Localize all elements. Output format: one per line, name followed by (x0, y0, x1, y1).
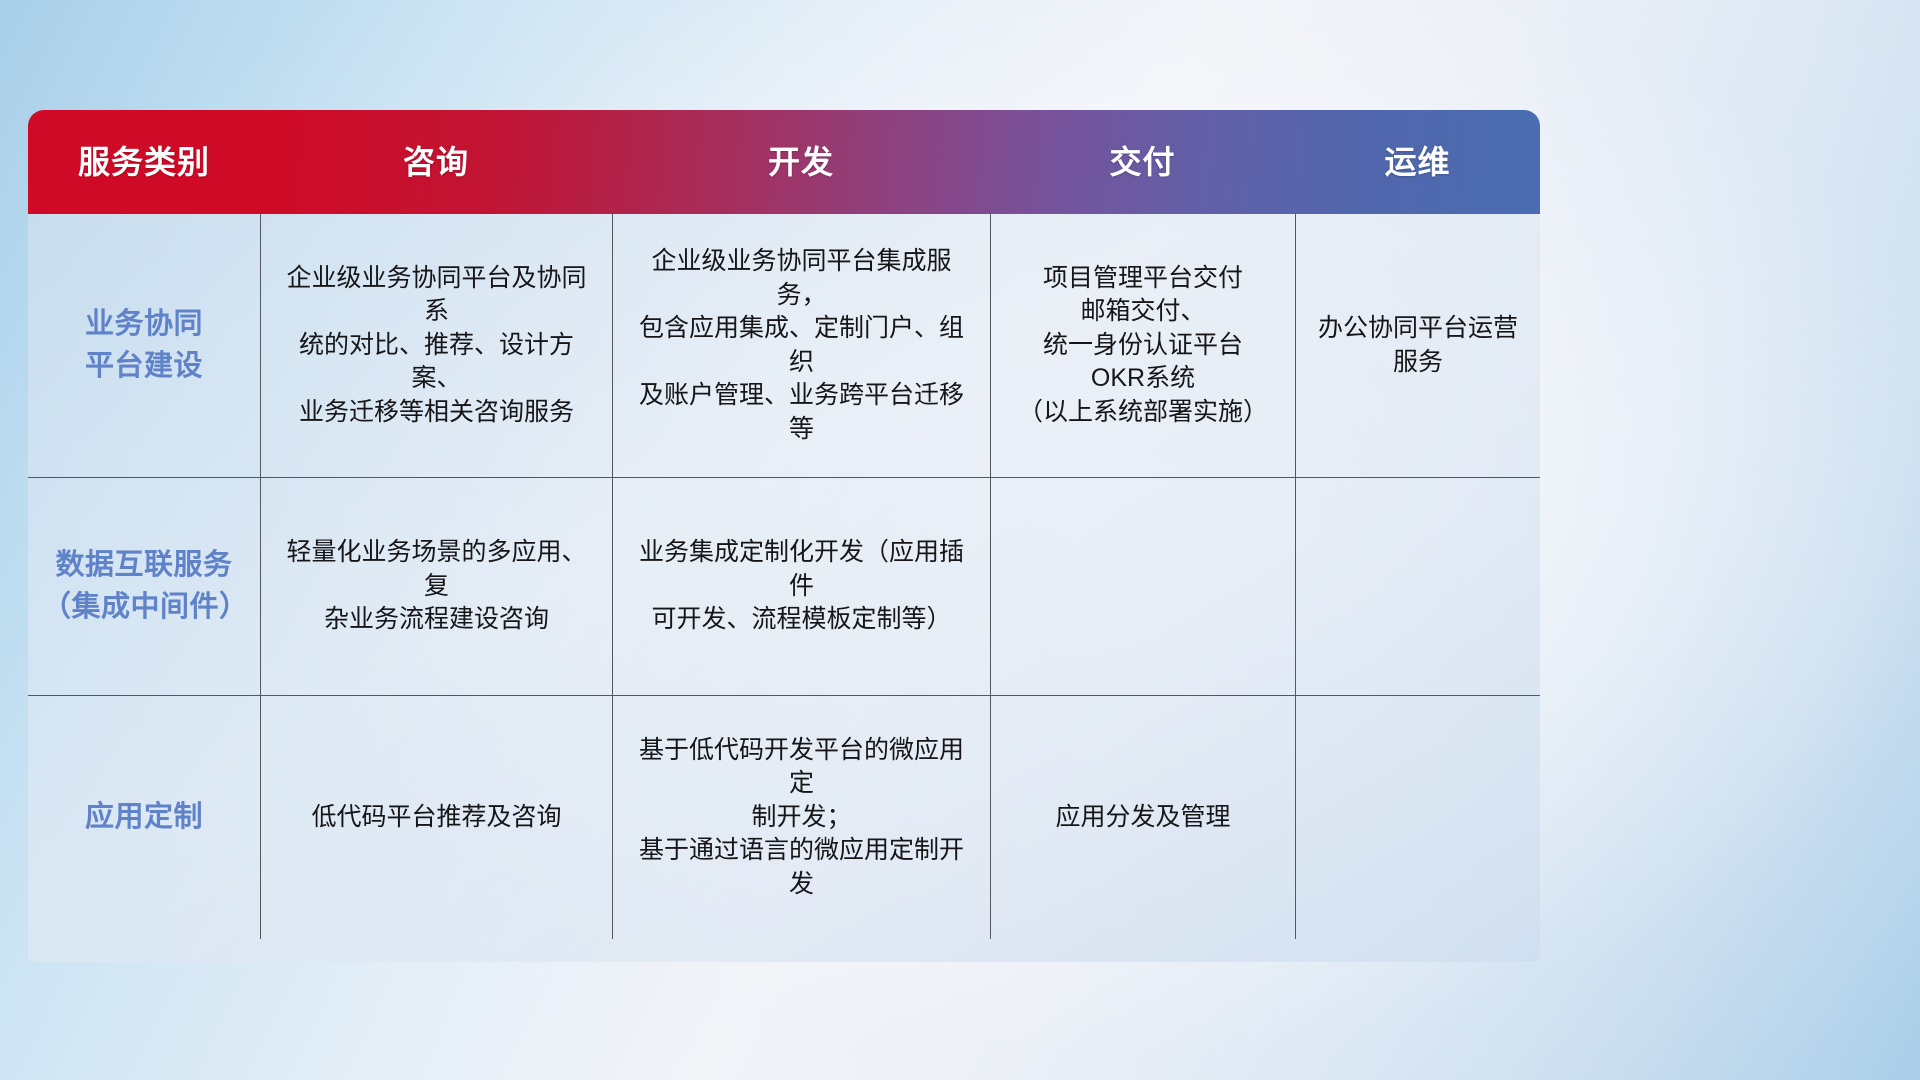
cell-delivery: 项目管理平台交付 邮箱交付、 统一身份认证平台 OKR系统 （以上系统部署实施） (990, 214, 1295, 477)
table-body: 业务协同 平台建设 企业级业务协同平台及协同系 统的对比、推荐、设计方案、 业务… (28, 214, 1540, 962)
cell-development: 基于低代码开发平台的微应用定 制开发； 基于通过语言的微应用定制开发 (612, 696, 990, 939)
column-header-delivery: 交付 (990, 146, 1295, 178)
table-row: 业务协同 平台建设 企业级业务协同平台及协同系 统的对比、推荐、设计方案、 业务… (28, 214, 1540, 477)
table-header-row: 服务类别 咨询 开发 交付 运维 (28, 110, 1540, 214)
cell-operations (1295, 696, 1540, 939)
row-category-label: 业务协同 平台建设 (28, 214, 260, 477)
cell-delivery (990, 478, 1295, 695)
table-row: 应用定制 低代码平台推荐及咨询 基于低代码开发平台的微应用定 制开发； 基于通过… (28, 695, 1540, 939)
row-category-label: 数据互联服务 （集成中间件） (28, 478, 260, 695)
cell-development: 企业级业务协同平台集成服务， 包含应用集成、定制门户、组织 及账户管理、业务跨平… (612, 214, 990, 477)
cell-consulting: 低代码平台推荐及咨询 (260, 696, 612, 939)
slide-canvas: 服务类别 咨询 开发 交付 运维 业务协同 平台建设 企业级业务协同平台及协同系… (0, 0, 1920, 1080)
column-header-operations: 运维 (1295, 146, 1540, 178)
table-row: 数据互联服务 （集成中间件） 轻量化业务场景的多应用、复 杂业务流程建设咨询 业… (28, 477, 1540, 695)
cell-development: 业务集成定制化开发（应用插件 可开发、流程模板定制等） (612, 478, 990, 695)
cell-operations: 办公协同平台运营服务 (1295, 214, 1540, 477)
service-matrix-table: 服务类别 咨询 开发 交付 运维 业务协同 平台建设 企业级业务协同平台及协同系… (28, 110, 1540, 962)
cell-consulting: 轻量化业务场景的多应用、复 杂业务流程建设咨询 (260, 478, 612, 695)
cell-delivery: 应用分发及管理 (990, 696, 1295, 939)
column-header-development: 开发 (612, 146, 990, 178)
column-header-consulting: 咨询 (260, 146, 612, 178)
column-header-category: 服务类别 (28, 146, 260, 178)
cell-consulting: 企业级业务协同平台及协同系 统的对比、推荐、设计方案、 业务迁移等相关咨询服务 (260, 214, 612, 477)
cell-operations (1295, 478, 1540, 695)
row-category-label: 应用定制 (28, 696, 260, 939)
